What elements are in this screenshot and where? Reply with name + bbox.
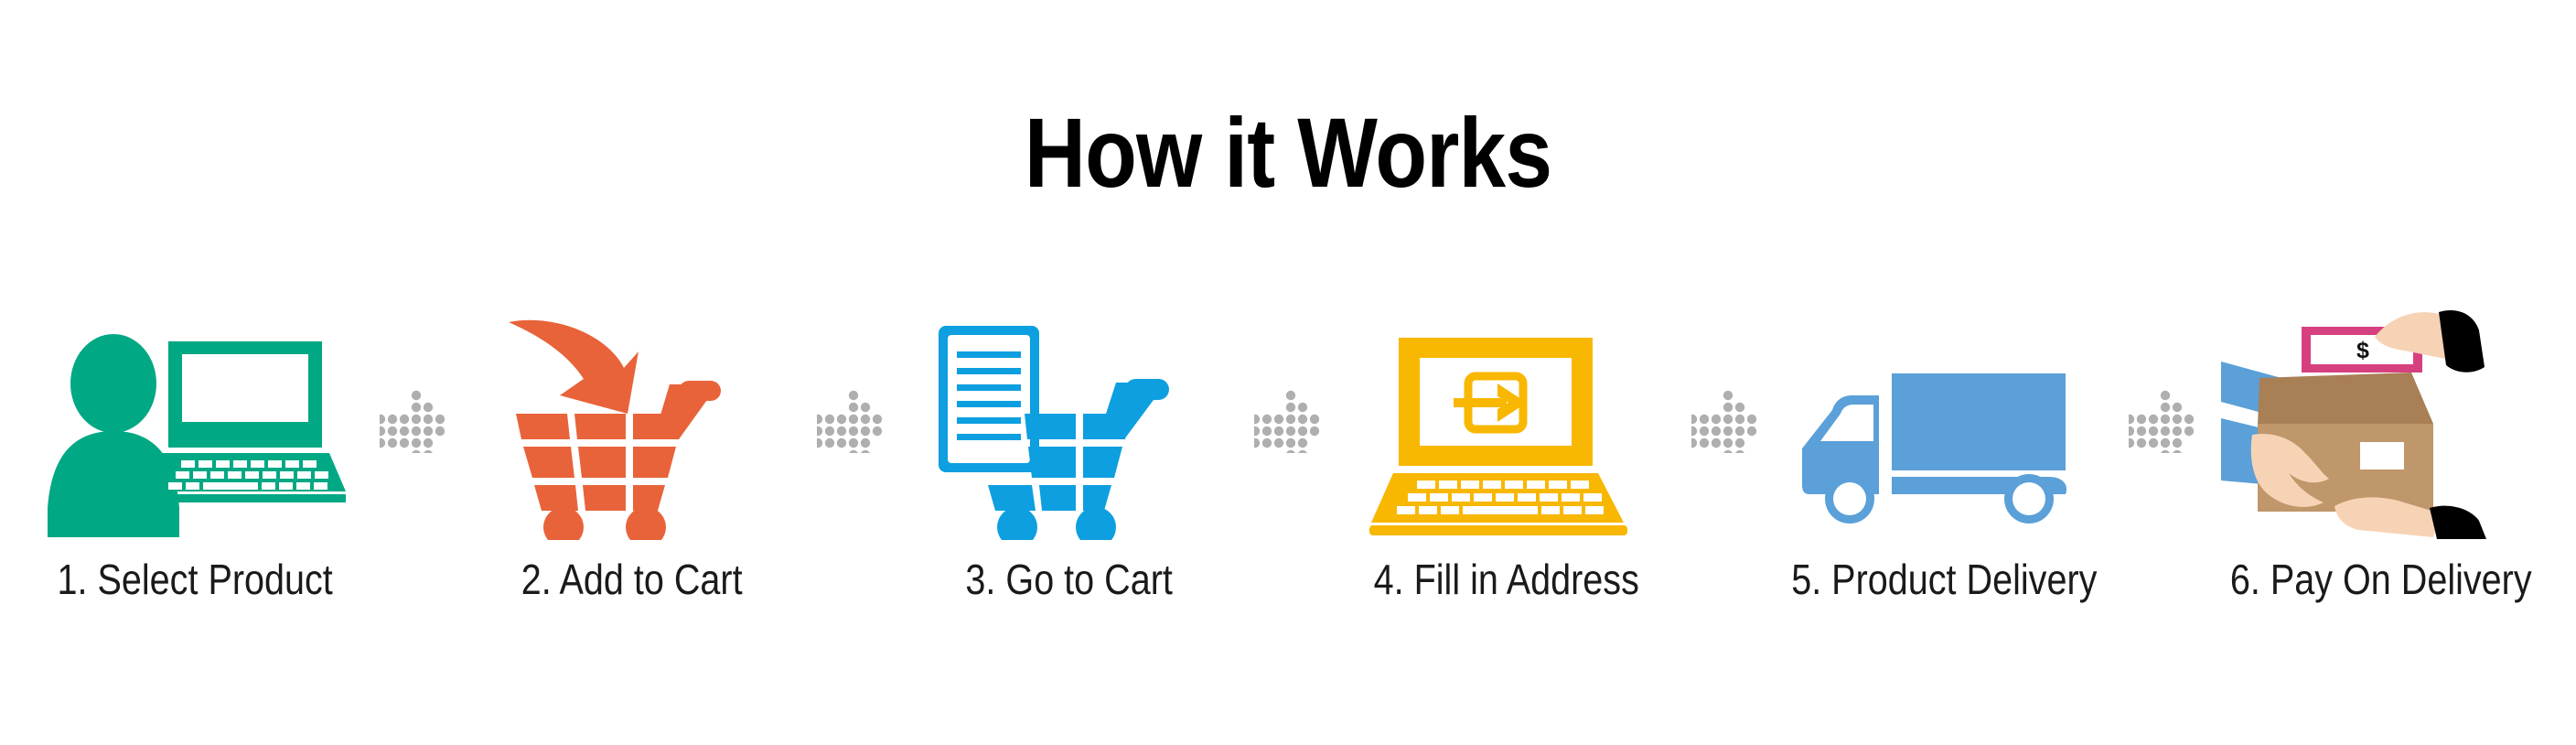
dollar-symbol: $ — [2356, 338, 2369, 363]
step-4-label: 4. Fill in Address — [1374, 555, 1639, 604]
document-and-cart-icon — [937, 311, 1202, 540]
step-pay-on-delivery[interactable]: $ 6. Pay On Delivery — [2198, 302, 2564, 604]
step-6-label: 6. Pay On Delivery — [2230, 555, 2532, 604]
step-product-delivery[interactable]: 5. Product Delivery — [1761, 302, 2127, 604]
step-2-icon-box — [449, 302, 815, 540]
dotted-arrow-right-icon — [380, 389, 447, 453]
cart-with-arrow-icon — [499, 311, 765, 540]
laptop-login-icon — [1369, 334, 1644, 540]
step-4-icon-box — [1324, 302, 1690, 540]
page-title: How it Works — [180, 101, 2396, 204]
step-fill-in-address[interactable]: 4. Fill in Address — [1324, 302, 1690, 604]
separator-3 — [1252, 302, 1324, 540]
steps-row: 1. Select Product — [0, 302, 2576, 650]
step-5-icon-box — [1761, 302, 2127, 540]
hands-box-cash-icon: $ — [2221, 307, 2541, 540]
separator-2 — [815, 302, 886, 540]
separator-1 — [378, 302, 449, 540]
step-select-product[interactable]: 1. Select Product — [12, 302, 378, 604]
separator-5 — [2127, 302, 2198, 540]
step-go-to-cart[interactable]: 3. Go to Cart — [886, 302, 1252, 604]
dotted-arrow-right-icon — [1691, 389, 1759, 453]
dotted-arrow-right-icon — [2129, 389, 2196, 453]
person-at-laptop-icon — [44, 325, 346, 540]
step-6-icon-box: $ — [2198, 302, 2564, 540]
step-5-label: 5. Product Delivery — [1791, 555, 2097, 604]
dotted-arrow-right-icon — [817, 389, 885, 453]
dotted-arrow-right-icon — [1254, 389, 1322, 453]
separator-4 — [1690, 302, 1761, 540]
step-3-label: 3. Go to Cart — [966, 555, 1173, 604]
step-1-icon-box — [12, 302, 378, 540]
how-it-works-infographic: How it Works — [0, 0, 2576, 745]
step-2-label: 2. Add to Cart — [521, 555, 743, 604]
step-1-label: 1. Select Product — [57, 555, 332, 604]
step-add-to-cart[interactable]: 2. Add to Cart — [449, 302, 815, 604]
delivery-truck-icon — [1802, 357, 2086, 540]
step-3-icon-box — [886, 302, 1252, 540]
